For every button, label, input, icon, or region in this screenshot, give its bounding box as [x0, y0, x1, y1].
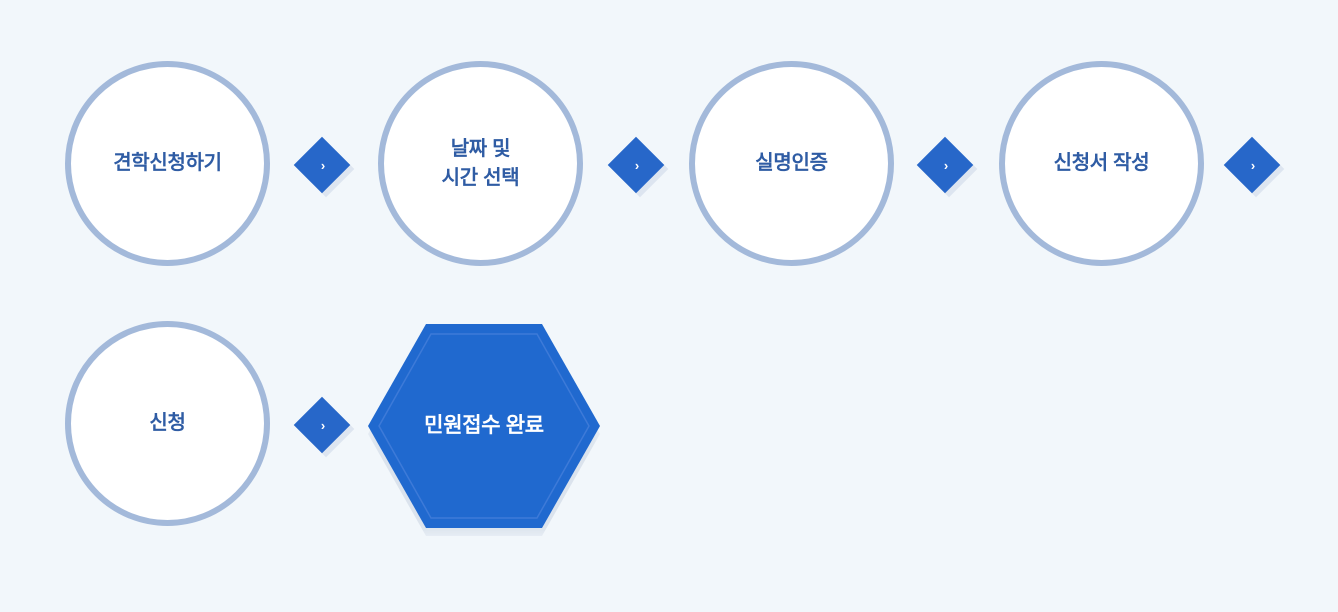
- flow-arrow-2: ›: [616, 145, 656, 185]
- flow-arrow-1: ›: [302, 145, 342, 185]
- chevron-right-icon: ›: [302, 405, 342, 445]
- flow-step-circle-1[interactable]: 견학신청하기: [65, 61, 270, 266]
- flow-step-label-1: 견학신청하기: [101, 149, 234, 177]
- flow-arrow-3: ›: [925, 145, 965, 185]
- flow-step-circle-3[interactable]: 실명인증: [689, 61, 894, 266]
- flow-step-label-final: 민원접수 완료: [424, 411, 544, 440]
- chevron-right-icon: ›: [925, 145, 965, 185]
- flow-step-label-4: 신청서 작성: [1042, 149, 1162, 177]
- flow-step-circle-4[interactable]: 신청서 작성: [999, 61, 1204, 266]
- flow-step-label-2: 날짜 및 시간 선택: [430, 135, 532, 192]
- process-flow-diagram: 견학신청하기 › 날짜 및 시간 선택 › 실명인증 › 신청서 작성 › 신청…: [0, 0, 1338, 612]
- flow-step-circle-5[interactable]: 신청: [65, 321, 270, 526]
- flow-arrow-5: ›: [302, 405, 342, 445]
- hexagon-label-wrap: 민원접수 완료: [368, 324, 600, 528]
- chevron-right-icon: ›: [616, 145, 656, 185]
- chevron-right-icon: ›: [1232, 145, 1272, 185]
- flow-step-label-5: 신청: [137, 409, 197, 437]
- flow-arrow-4: ›: [1232, 145, 1272, 185]
- flow-step-label-3: 실명인증: [743, 149, 839, 177]
- chevron-right-icon: ›: [302, 145, 342, 185]
- flow-step-hexagon-final[interactable]: 민원접수 완료: [368, 324, 600, 528]
- flow-step-circle-2[interactable]: 날짜 및 시간 선택: [378, 61, 583, 266]
